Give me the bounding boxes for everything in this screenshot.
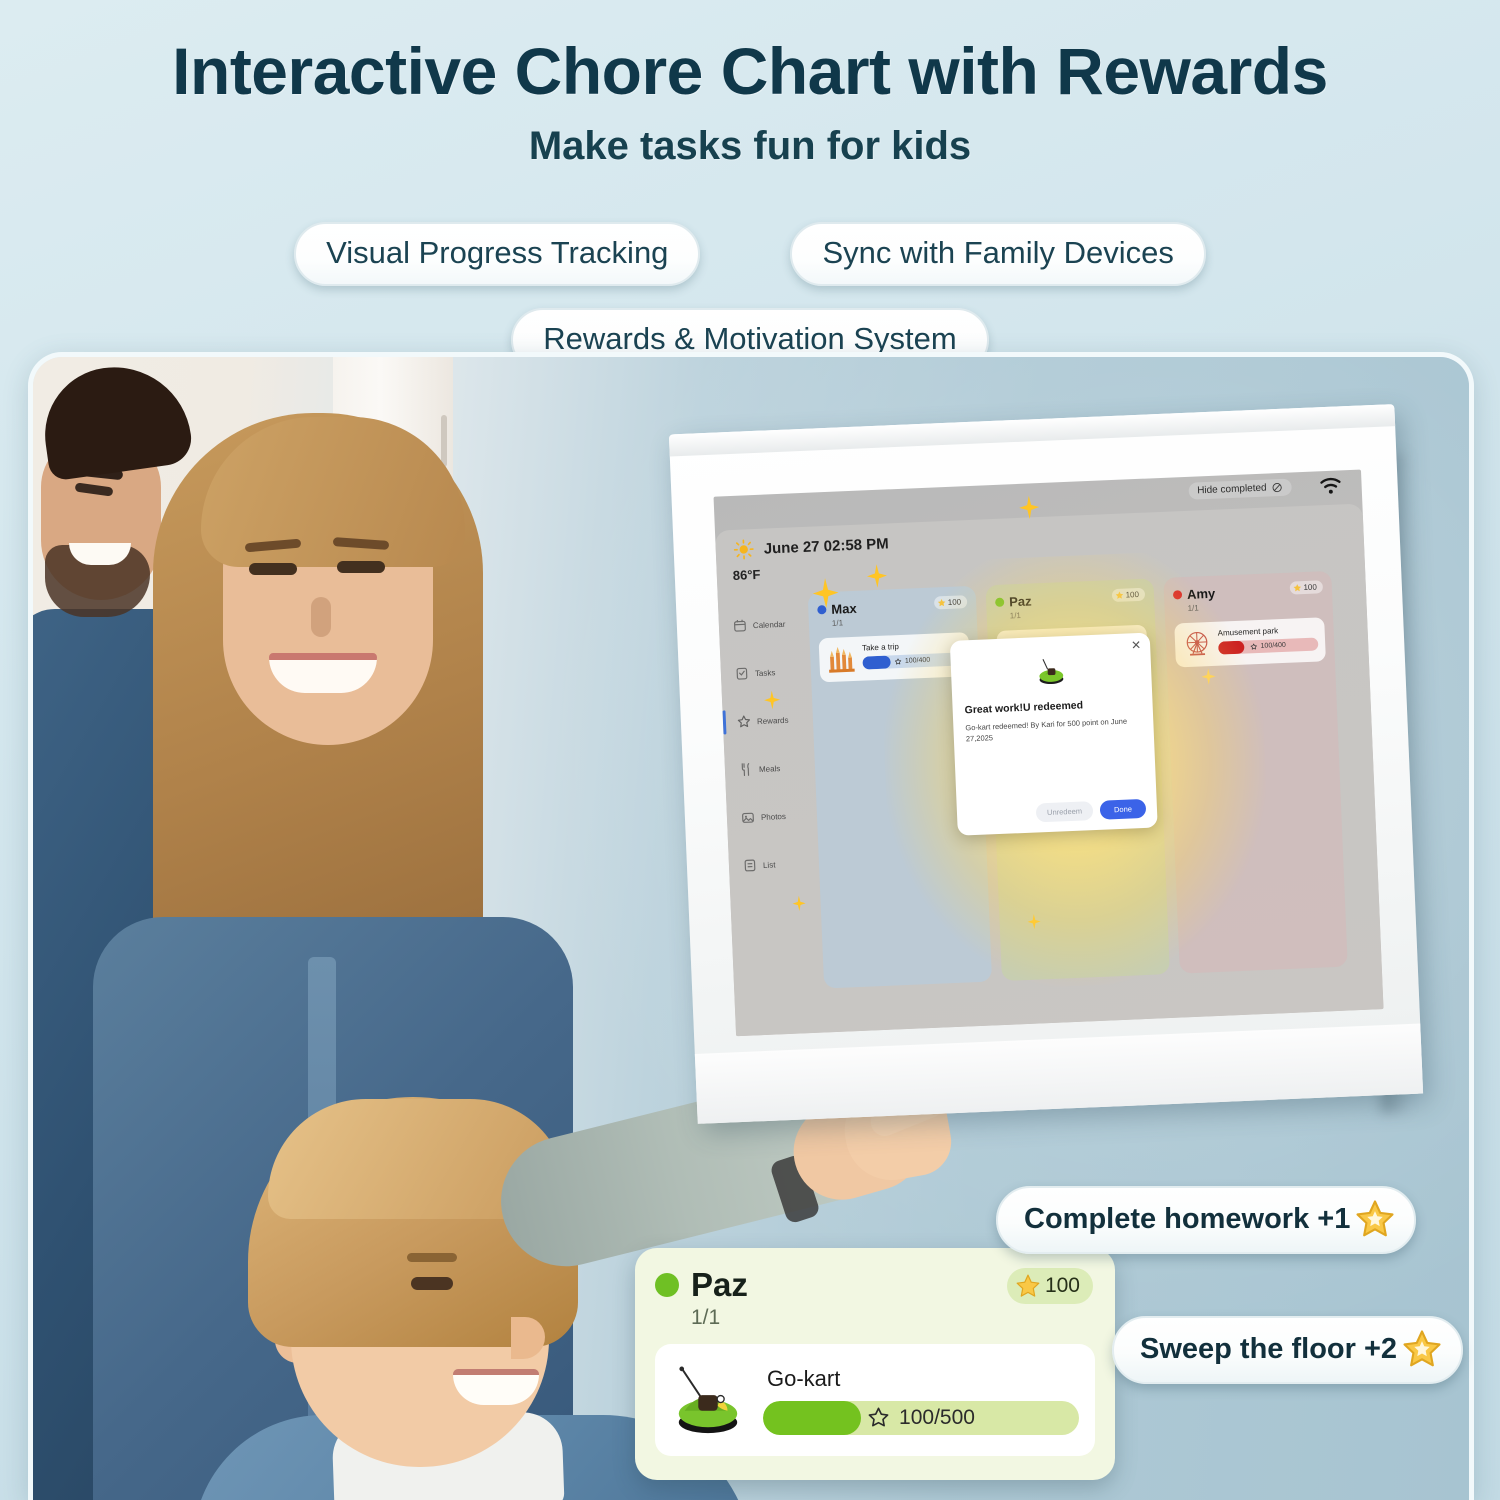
paz-points-badge: 100	[1007, 1268, 1093, 1304]
sparkle-icon	[812, 578, 839, 609]
star-icon	[1292, 583, 1301, 592]
castle-icon	[826, 644, 857, 675]
page-subtitle: Make tasks fun for kids	[0, 104, 1500, 169]
reward-progress-text-wrap-amy: 100/400	[1218, 638, 1318, 655]
kid-status-dot	[1173, 590, 1182, 599]
feature-pill-visual-progress: Visual Progress Tracking	[294, 222, 700, 286]
reward-progress-bar-max: 100/400	[862, 652, 962, 669]
eye-off-icon	[1271, 482, 1282, 493]
ferris-wheel-icon	[1182, 629, 1213, 660]
done-button[interactable]: Done	[1100, 799, 1147, 820]
sidebar-item-calendar[interactable]: Calendar	[726, 599, 802, 650]
kid-points-badge-amy: 100	[1289, 580, 1323, 594]
temperature-label: 86°F	[733, 567, 761, 583]
star-outline-icon	[895, 658, 902, 665]
sparkle-icon	[1027, 913, 1041, 930]
task-badge-complete-homework: Complete homework +1	[996, 1186, 1416, 1254]
sidebar-label-list: List	[763, 860, 776, 870]
sidebar-item-list[interactable]: List	[736, 839, 812, 890]
star-icon	[937, 598, 946, 607]
paz-reward-row[interactable]: Go-kart 100/500	[655, 1344, 1095, 1456]
sidebar-label-rewards: Rewards	[757, 715, 789, 725]
paz-reward-progress-bar: 100/500	[763, 1401, 1079, 1435]
paz-reward-overlay-card[interactable]: Paz 1/1 100 Go-kart	[635, 1248, 1115, 1480]
reward-redeemed-dialog[interactable]: ✕ Great work!U redeemed Go-kart redeemed…	[950, 633, 1158, 836]
sparkle-icon	[792, 895, 806, 912]
sparkle-icon	[1201, 668, 1216, 686]
task-badge-label-homework: Complete homework +1	[1024, 1203, 1350, 1236]
list-icon	[743, 858, 758, 873]
calendar-icon	[733, 618, 748, 633]
dialog-description: Go-kart redeemed! By Kari for 500 point …	[965, 716, 1142, 745]
kid-column-amy[interactable]: Amy 1/1 100	[1163, 571, 1347, 974]
kid-points-badge-max: 100	[934, 595, 968, 609]
reward-progress-text-amy: 100/400	[1260, 642, 1286, 650]
star-outline-icon	[1250, 643, 1257, 650]
sidebar-label-meals: Meals	[759, 764, 781, 774]
mother-smile	[269, 653, 377, 693]
weather-datetime-row: June 27 02:58 PM	[733, 533, 889, 559]
paz-reward-progress-text-wrap: 100/500	[763, 1401, 1079, 1435]
paz-points-value: 100	[1045, 1274, 1080, 1298]
paz-reward-progress-text: 100/500	[899, 1406, 975, 1430]
reward-card-max[interactable]: Take a trip 100/400	[819, 632, 971, 682]
reward-title-amy: Amusement park	[1217, 625, 1317, 638]
sidebar-label-photos: Photos	[761, 811, 786, 821]
kid-points-value-amy: 100	[1303, 583, 1317, 593]
feature-pill-sync-devices: Sync with Family Devices	[790, 222, 1205, 286]
screen-sidebar: Calendar Tasks Rewards	[726, 599, 812, 890]
dialog-title: Great work!U redeemed	[964, 697, 1140, 716]
gokart-icon	[1033, 654, 1068, 689]
sidebar-item-photos[interactable]: Photos	[734, 791, 810, 842]
reward-body-amy: Amusement park 100/400	[1217, 625, 1318, 655]
feature-pill-row-1: Visual Progress Tracking Sync with Famil…	[0, 222, 1500, 286]
sun-icon	[733, 539, 754, 560]
kid-points-value-paz: 100	[1125, 590, 1139, 600]
gokart-icon	[669, 1364, 747, 1436]
reward-card-amy[interactable]: Amusement park 100/400	[1174, 617, 1326, 667]
wall-tablet-device[interactable]: Hide completed	[669, 404, 1423, 1124]
door-handle	[441, 415, 447, 467]
mother-nose	[311, 597, 331, 637]
sparkle-icon	[866, 564, 887, 589]
kid-name-paz: Paz	[1009, 593, 1032, 609]
sparkle-icon	[1019, 495, 1040, 520]
paz-name: Paz	[691, 1266, 748, 1304]
wifi-icon	[1319, 476, 1342, 495]
screen-body: June 27 02:58 PM 86°F Calendar	[715, 504, 1384, 1037]
page-title: Interactive Chore Chart with Rewards	[0, 0, 1500, 104]
child-eye	[411, 1277, 453, 1290]
tablet-screen[interactable]: Hide completed	[714, 470, 1384, 1037]
close-icon[interactable]: ✕	[1131, 639, 1142, 651]
kid-points-value-max: 100	[948, 597, 962, 607]
photos-icon	[741, 810, 756, 825]
date-time-label: June 27 02:58 PM	[763, 535, 889, 557]
sidebar-label-calendar: Calendar	[753, 619, 786, 629]
paz-task-fraction: 1/1	[691, 1306, 1095, 1330]
star-outline-icon	[867, 1406, 890, 1429]
sidebar-label-tasks: Tasks	[755, 668, 776, 678]
kid-points-badge-paz: 100	[1111, 588, 1145, 602]
mother-eye-left	[249, 563, 297, 575]
mother-eye-right	[337, 561, 385, 573]
star-icon	[1354, 1198, 1396, 1240]
child-eyebrow	[407, 1253, 457, 1262]
star-icon	[1114, 591, 1123, 600]
paz-status-dot	[655, 1273, 679, 1297]
tasks-icon	[735, 666, 750, 681]
reward-progress-text-max: 100/400	[905, 657, 931, 665]
unredeem-button[interactable]: Unredeem	[1036, 801, 1094, 822]
reward-body-max: Take a trip 100/400	[862, 639, 963, 669]
reward-progress-text-wrap-max: 100/400	[862, 652, 962, 669]
kid-name-amy: Amy	[1187, 586, 1216, 602]
star-icon	[1015, 1273, 1041, 1299]
reward-progress-bar-amy: 100/400	[1218, 638, 1318, 655]
task-badge-sweep-floor: Sweep the floor +2	[1112, 1316, 1463, 1384]
paz-reward-title: Go-kart	[767, 1366, 1079, 1392]
reward-title-max: Take a trip	[862, 639, 962, 652]
hide-completed-toggle[interactable]: Hide completed	[1188, 478, 1292, 499]
paz-reward-body: Go-kart 100/500	[763, 1366, 1079, 1435]
star-icon	[1401, 1328, 1443, 1370]
task-badge-label-sweep: Sweep the floor +2	[1140, 1333, 1397, 1366]
sparkle-icon	[764, 690, 781, 710]
dialog-actions: Unredeem Done	[1036, 799, 1147, 823]
meals-icon	[739, 762, 754, 777]
feature-pill-group: Visual Progress Tracking Sync with Famil…	[0, 222, 1500, 372]
hide-completed-label: Hide completed	[1197, 483, 1267, 497]
star-icon	[737, 714, 752, 729]
kid-status-dot	[995, 598, 1004, 607]
sidebar-item-meals[interactable]: Meals	[732, 743, 808, 794]
page-header: Interactive Chore Chart with Rewards Mak…	[0, 0, 1500, 200]
